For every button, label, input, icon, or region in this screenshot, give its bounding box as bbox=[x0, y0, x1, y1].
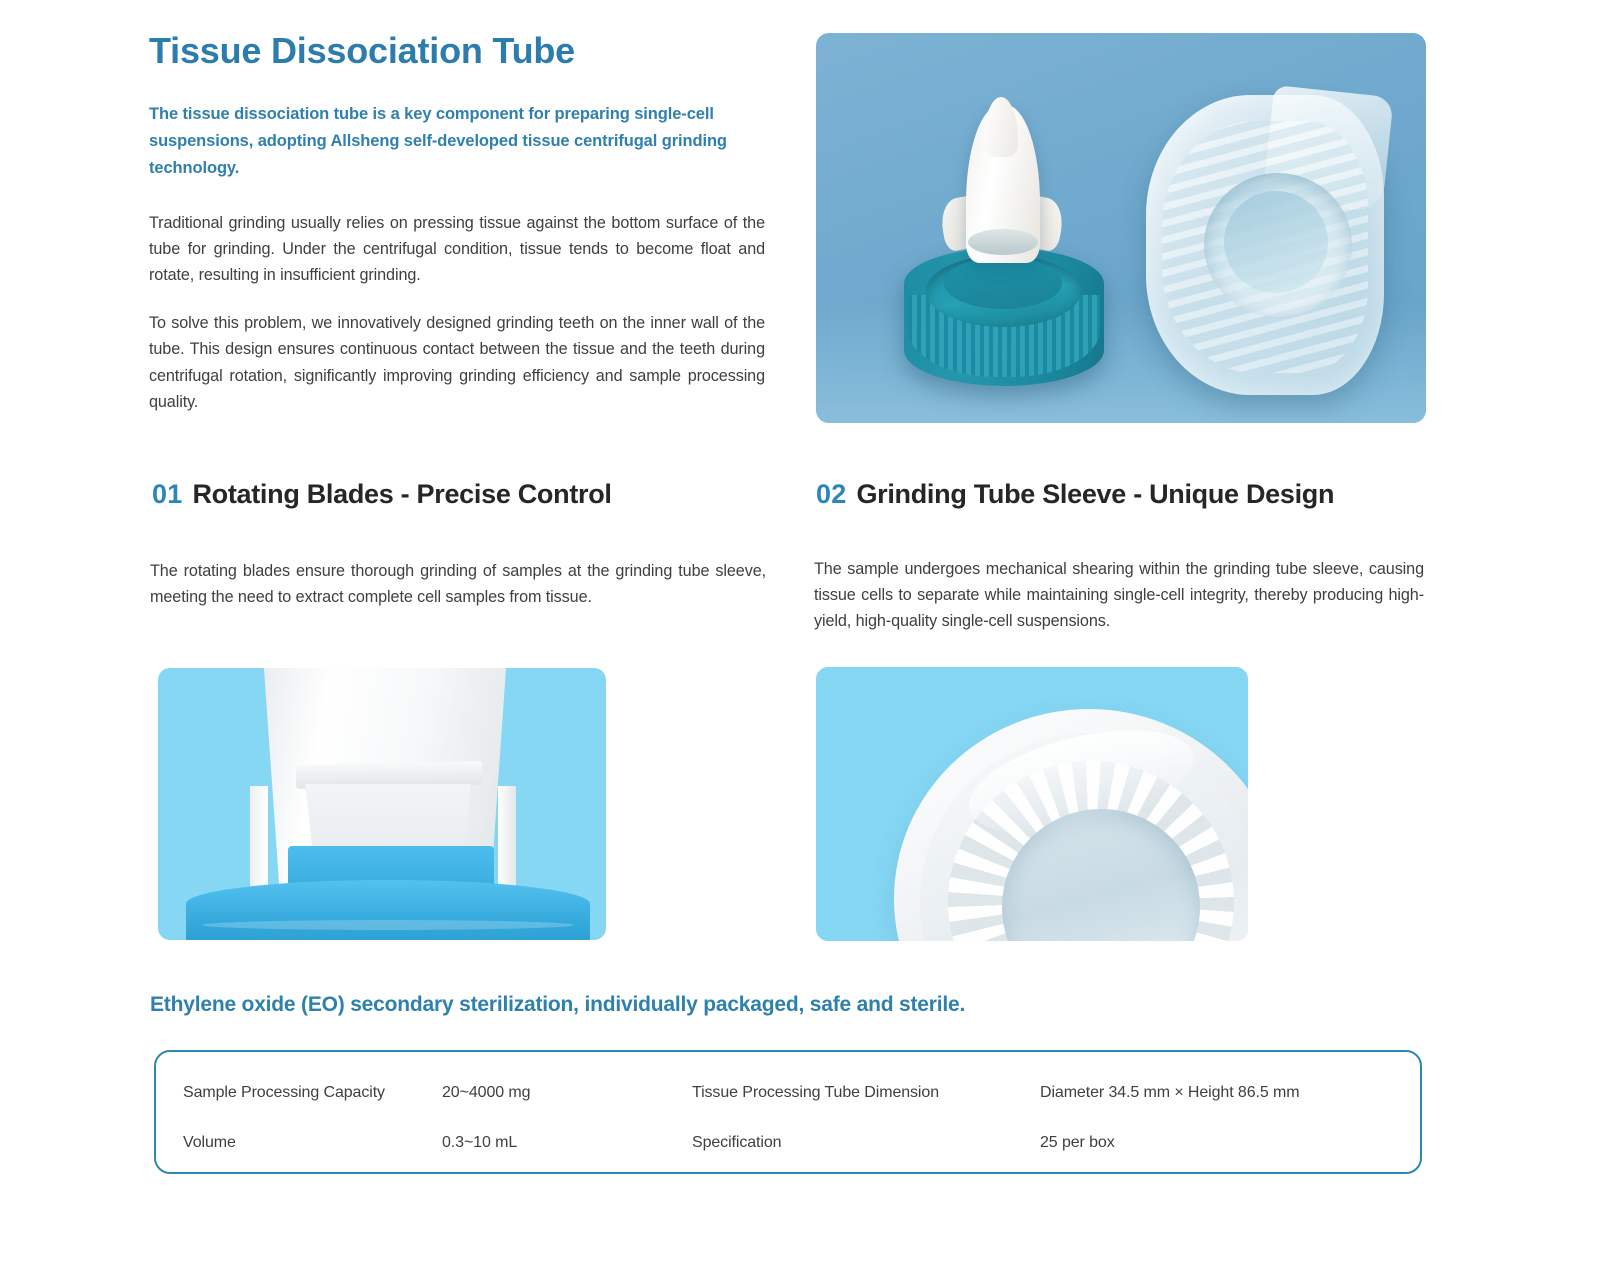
table-row: Sample Processing Capacity 20~4000 mg Ti… bbox=[156, 1068, 1420, 1118]
feature-heading-2: 02 Grinding Tube Sleeve - Unique Design bbox=[816, 479, 1334, 510]
feature-title-1: Rotating Blades - Precise Control bbox=[192, 479, 611, 510]
page-title: Tissue Dissociation Tube bbox=[149, 30, 765, 71]
feature-title-2: Grinding Tube Sleeve - Unique Design bbox=[856, 479, 1334, 510]
feature-image-grinding-sleeve bbox=[816, 667, 1248, 941]
blade-right-notch-shape bbox=[498, 786, 516, 898]
spec-value-tissue-processing-tube-dimension: Diameter 34.5 mm × Height 86.5 mm bbox=[1040, 1084, 1400, 1102]
feature-number-1: 01 bbox=[152, 479, 182, 510]
lead-paragraph: The tissue dissociation tube is a key co… bbox=[149, 101, 765, 181]
specifications-table: Sample Processing Capacity 20~4000 mg Ti… bbox=[156, 1052, 1420, 1172]
spec-value-sample-processing-capacity: 20~4000 mg bbox=[442, 1084, 692, 1102]
blade-underside-shape bbox=[298, 784, 478, 850]
blade-base-highlight-shape bbox=[202, 920, 574, 930]
teal-cap-inner-ring-2-shape bbox=[944, 257, 1062, 309]
nozzle-collar-shape bbox=[968, 229, 1038, 255]
table-row: Volume 0.3~10 mL Specification 25 per bo… bbox=[156, 1118, 1420, 1168]
blade-left-notch-shape bbox=[250, 786, 268, 898]
spec-value-volume: 0.3~10 mL bbox=[442, 1134, 692, 1152]
spec-label-sample-processing-capacity: Sample Processing Capacity bbox=[156, 1084, 442, 1102]
feature-heading-1: 01 Rotating Blades - Precise Control bbox=[152, 479, 612, 510]
feature-number-2: 02 bbox=[816, 479, 846, 510]
spec-label-specification: Specification bbox=[692, 1134, 1040, 1152]
body-paragraph-1: Traditional grinding usually relies on p… bbox=[149, 210, 765, 289]
feature-image-rotating-blades bbox=[158, 668, 606, 940]
feature-text-2: The sample undergoes mechanical shearing… bbox=[814, 557, 1424, 635]
sterilization-heading: Ethylene oxide (EO) secondary sterilizat… bbox=[150, 993, 965, 1017]
spec-label-volume: Volume bbox=[156, 1134, 442, 1152]
grinding-tube-bore-shape bbox=[1224, 191, 1328, 293]
product-page: Tissue Dissociation Tube The tissue diss… bbox=[0, 0, 1600, 1262]
hero-product-image bbox=[816, 33, 1426, 423]
feature-text-1: The rotating blades ensure thorough grin… bbox=[150, 559, 766, 611]
blade-base-shape bbox=[186, 880, 590, 940]
nozzle-tip-shape bbox=[984, 97, 1018, 157]
spec-label-tissue-processing-tube-dimension: Tissue Processing Tube Dimension bbox=[692, 1084, 1040, 1102]
spec-value-specification: 25 per box bbox=[1040, 1134, 1400, 1152]
intro-column: Tissue Dissociation Tube The tissue diss… bbox=[149, 30, 765, 415]
body-paragraph-2: To solve this problem, we innovatively d… bbox=[149, 310, 765, 415]
specifications-box: Sample Processing Capacity 20~4000 mg Ti… bbox=[154, 1050, 1422, 1174]
